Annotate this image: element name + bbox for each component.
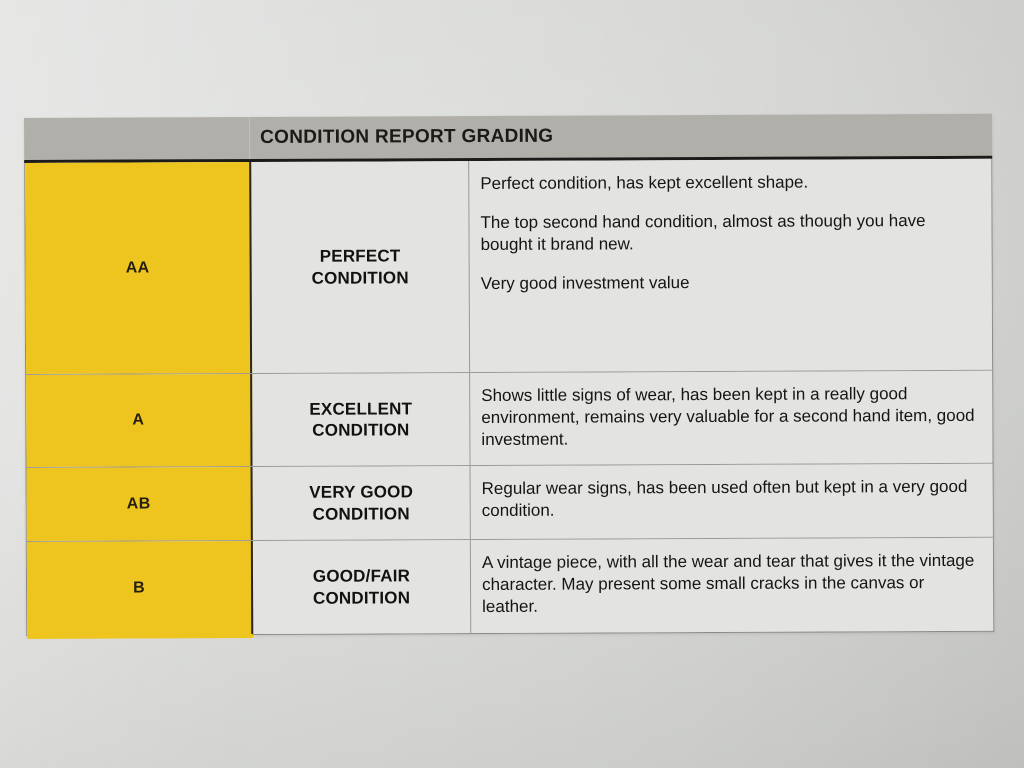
table-row: AA PERFECT CONDITION Perfect condition, … <box>25 159 992 375</box>
page-title: CONDITION REPORT GRADING <box>250 124 992 149</box>
description-paragraph: Shows little signs of wear, has been kep… <box>481 383 978 451</box>
description-paragraph: Perfect condition, has kept excellent sh… <box>480 171 977 195</box>
condition-report-grading-table: CONDITION REPORT GRADING AA PERFECT COND… <box>24 114 994 636</box>
condition-label-cell-aa: PERFECT CONDITION <box>251 161 470 373</box>
description-cell-ab: Regular wear signs, has been used often … <box>471 464 993 539</box>
grade-cell-aa: AA <box>25 162 252 374</box>
condition-label-cell-b: GOOD/FAIR CONDITION <box>253 540 471 634</box>
description-cell-a: Shows little signs of wear, has been kep… <box>470 371 992 465</box>
grade-cell-ab: AB <box>27 467 253 541</box>
condition-label-line-1: PERFECT <box>320 247 401 266</box>
table-row: B GOOD/FAIR CONDITION A vintage piece, w… <box>27 538 993 635</box>
condition-label-line-2: CONDITION <box>313 588 410 607</box>
description-paragraph: A vintage piece, with all the wear and t… <box>482 550 979 618</box>
condition-label-line-1: VERY GOOD <box>309 483 413 502</box>
condition-label-line-2: CONDITION <box>313 504 410 523</box>
table-header-spacer-cell <box>24 117 250 160</box>
description-paragraph: The top second hand condition, almost as… <box>480 210 977 256</box>
condition-label-line-2: CONDITION <box>312 268 409 287</box>
description-cell-aa: Perfect condition, has kept excellent sh… <box>469 159 992 372</box>
description-cell-b: A vintage piece, with all the wear and t… <box>471 538 993 633</box>
description-paragraph: Very good investment value <box>481 271 978 295</box>
table-header-row: CONDITION REPORT GRADING <box>24 114 992 163</box>
condition-label-cell-a: EXCELLENT CONDITION <box>252 373 470 466</box>
grade-cell-a: A <box>26 374 252 467</box>
condition-label-line-1: EXCELLENT <box>309 399 412 418</box>
table-row: AB VERY GOOD CONDITION Regular wear sign… <box>27 464 993 542</box>
condition-label-line-1: GOOD/FAIR <box>313 567 410 586</box>
description-paragraph: Regular wear signs, has been used often … <box>482 476 979 522</box>
table-body: AA PERFECT CONDITION Perfect condition, … <box>24 159 994 636</box>
table-row: A EXCELLENT CONDITION Shows little signs… <box>26 371 992 468</box>
condition-label-cell-ab: VERY GOOD CONDITION <box>253 466 471 540</box>
condition-label-line-2: CONDITION <box>312 420 409 439</box>
grade-cell-b: B <box>27 541 253 635</box>
